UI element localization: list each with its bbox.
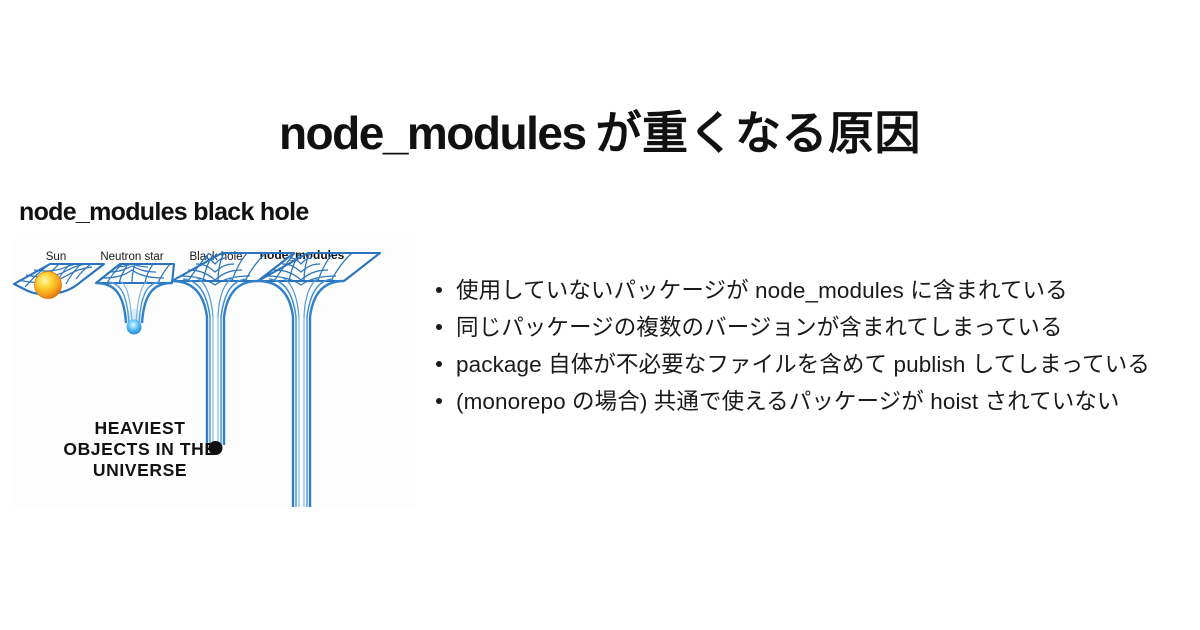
bullet-dot-icon: [436, 287, 442, 293]
list-item-label: 使用していないパッケージが node_modules に含まれている: [456, 278, 1068, 303]
bullet-dot-icon: [436, 324, 442, 330]
list-item: package 自体が不必要なファイルを含めて publish してしまっている: [430, 346, 1190, 383]
neutron-star-spacetime-cell: [96, 264, 174, 335]
meme-caption-line-1: HEAVIEST: [94, 418, 185, 438]
list-item: (monorepo の場合) 共通で使えるパッケージが hoist されていない: [430, 383, 1190, 420]
sun-sphere: [35, 272, 62, 299]
bullet-dot-icon: [436, 361, 442, 367]
sun-spacetime-cell: [14, 264, 104, 299]
black-hole-spacetime-cell: [172, 253, 294, 455]
page-title-jp-part: が重くなる原因: [596, 107, 922, 159]
meme-image-panel: Sun Neutron star Black hole node_modules: [12, 239, 416, 507]
list-item-label: 同じパッケージの複数のバージョンが含まれてしまっている: [456, 315, 1063, 340]
neutron-star-core: [127, 320, 142, 335]
label-sun: Sun: [46, 251, 66, 263]
meme-caption-line-3: UNIVERSE: [93, 460, 187, 480]
list-item-label: package 自体が不必要なファイルを含めて publish してしまっている: [456, 352, 1150, 377]
list-item: 使用していないパッケージが node_modules に含まれている: [430, 272, 1190, 309]
bullet-dot-icon: [436, 398, 442, 404]
list-item-label: (monorepo の場合) 共通で使えるパッケージが hoist されていない: [456, 389, 1120, 414]
spacetime-funnel-diagram: Sun Neutron star Black hole node_modules: [12, 239, 416, 507]
figure-block: node_modules black hole: [12, 198, 416, 507]
node-modules-spacetime-cell: [258, 253, 380, 507]
label-neutron-star: Neutron star: [100, 251, 163, 263]
list-item: 同じパッケージの複数のバージョンが含まれてしまっている: [430, 309, 1190, 346]
page-title-code-part: node_modules: [279, 107, 586, 159]
figure-caption: node_modules black hole: [19, 198, 416, 227]
page-title: node_modulesが重くなる原因: [0, 107, 1200, 160]
meme-caption-line-2: OBJECTS IN THE: [63, 439, 216, 459]
cause-bullet-list: 使用していないパッケージが node_modules に含まれている 同じパッケ…: [430, 272, 1190, 420]
